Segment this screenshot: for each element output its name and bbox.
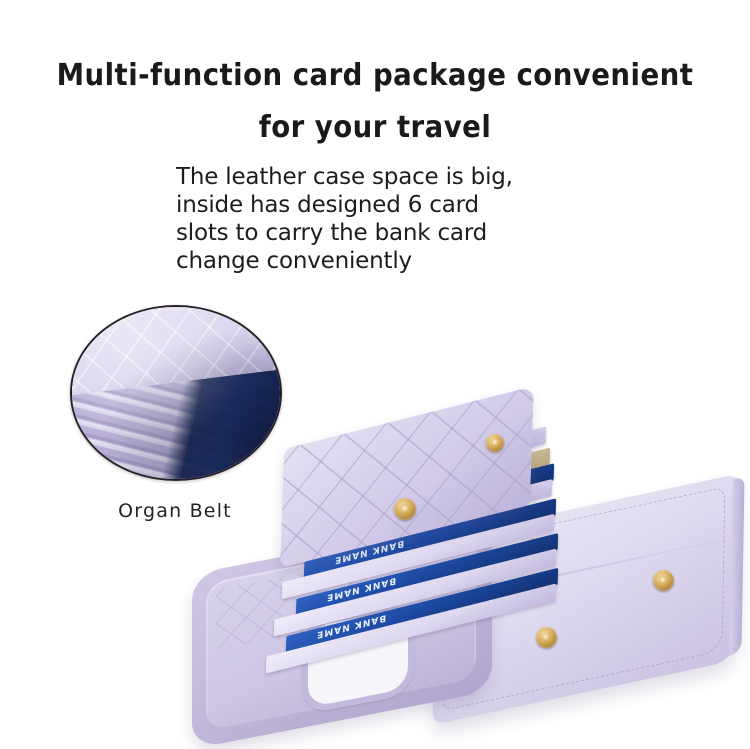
snap-button-quilted-flap-top: [486, 434, 504, 452]
description-line-2: inside has designed 6 card: [176, 191, 606, 219]
description-line-4: change conveniently: [176, 247, 606, 275]
flap-edge: [729, 476, 744, 655]
page-title: Multi-function card package convenient f…: [30, 50, 720, 154]
snap-button-flap-right: [653, 570, 674, 591]
product-detail-image: Multi-function card package convenient f…: [0, 0, 750, 749]
description-line-3: slots to carry the bank card: [176, 219, 606, 247]
description-line-1: The leather case space is big,: [176, 163, 606, 191]
snap-button-quilted-flap-front: [394, 498, 416, 520]
headline-line-2: for your travel: [30, 102, 720, 154]
product-photo: BANK NAME BANK NAME BANK NAME BANK NAME: [186, 410, 738, 735]
headline-line-1: Multi-function card package convenient: [30, 50, 720, 102]
description-paragraph: The leather case space is big, inside ha…: [176, 163, 606, 275]
